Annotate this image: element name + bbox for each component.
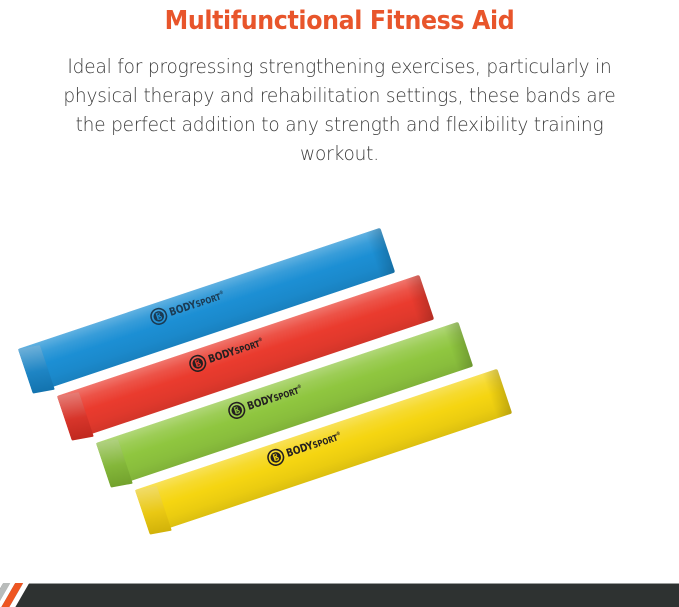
product-image: BODYSPORT® BODYSPORT® xyxy=(0,214,679,583)
bottom-bar-highlight xyxy=(0,583,679,584)
registered-trademark-icon: ® xyxy=(258,336,264,343)
page-title: Multifunctional Fitness Aid xyxy=(24,0,655,38)
product-infographic: Multifunctional Fitness Aid Ideal for pr… xyxy=(0,0,679,607)
body-description: Ideal for progressing strengthening exer… xyxy=(17,38,662,168)
copy-block: Multifunctional Fitness Aid Ideal for pr… xyxy=(0,0,679,168)
registered-trademark-icon: ® xyxy=(219,289,225,296)
registered-trademark-icon: ® xyxy=(336,430,342,437)
bottom-bar xyxy=(0,583,679,607)
registered-trademark-icon: ® xyxy=(297,383,303,390)
